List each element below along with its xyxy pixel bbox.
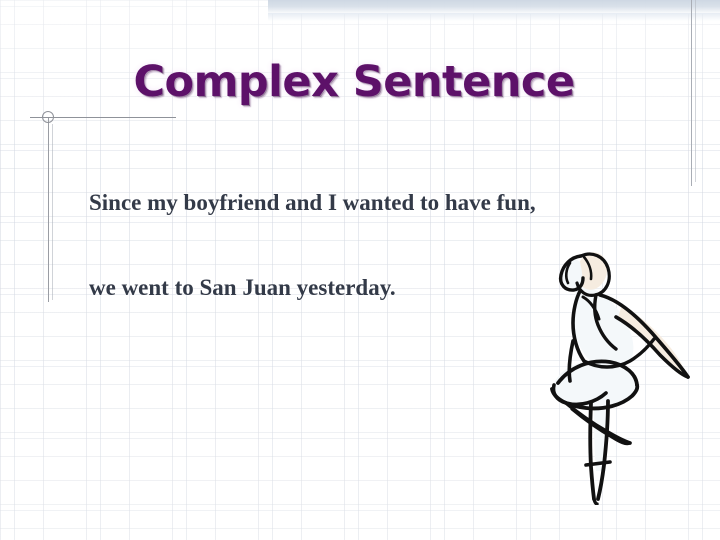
left-margin-rule-shadow — [52, 124, 53, 300]
ballerina-dancer-illustration: .ink { fill:none; stroke:#111111; stroke… — [536, 243, 702, 505]
sentence-clause-dependent: Since my boyfriend and I wanted to have … — [89, 190, 536, 216]
top-banner-band — [268, 0, 720, 14]
left-margin-rule — [48, 118, 49, 302]
circle-connector-icon — [42, 111, 54, 123]
slide-canvas: Complex Sentence Since my boyfriend and … — [0, 0, 720, 540]
page-title: Complex Sentence — [0, 57, 708, 107]
top-banner-band-fade — [268, 13, 720, 21]
sentence-clause-independent: we went to San Juan yesterday. — [89, 275, 396, 301]
ballerina-dancer-icon: .ink { fill:none; stroke:#111111; stroke… — [536, 243, 702, 505]
